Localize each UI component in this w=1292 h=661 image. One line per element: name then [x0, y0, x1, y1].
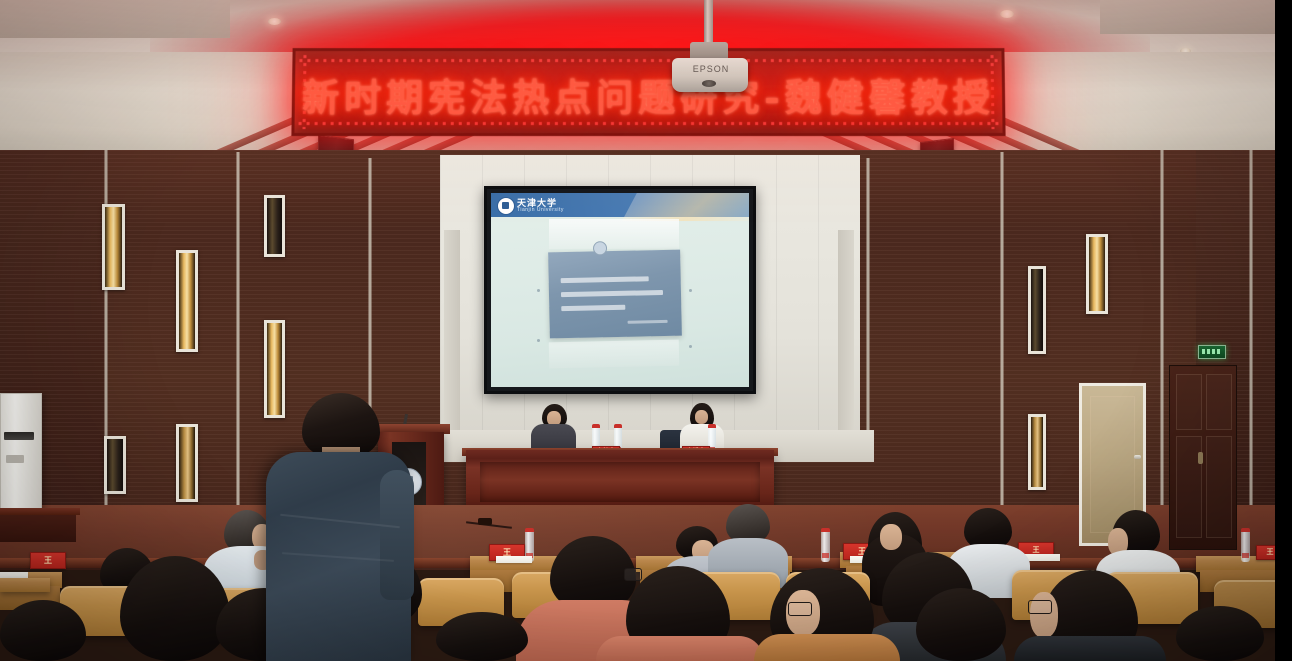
- projection-screen: 天津大学 Tianjin University: [491, 193, 749, 387]
- audience-person-head: [0, 600, 86, 661]
- main-exit-door[interactable]: [1169, 365, 1237, 550]
- wall-light-slot: [264, 195, 285, 257]
- led-banner: 新时期宪法热点问题研究-魏健馨教授: [291, 48, 1005, 136]
- audience-nameplate-text: 王: [490, 545, 524, 556]
- eyeglasses-icon: [624, 568, 642, 581]
- audience-person-shoulders: [1014, 636, 1166, 661]
- eyeglasses-icon: [788, 602, 812, 616]
- audience-person-head: [1176, 606, 1264, 661]
- front-wall-strip-left: [444, 230, 460, 435]
- tianjin-university-logo-icon: [497, 197, 515, 215]
- slide-org-name-en: Tianjin University: [517, 207, 564, 213]
- lecture-hall-photo: 新时期宪法热点问题研究-魏健馨教授 EPSON 天津大学 Tianjin Uni…: [0, 0, 1292, 661]
- wall-light-slot: [176, 250, 198, 352]
- wall-seam: [1160, 150, 1164, 550]
- slide-quote-crest-icon: [593, 241, 607, 255]
- slide-document-bottom: [549, 340, 680, 369]
- water-bottle: [1241, 528, 1250, 562]
- slide-header-band: 天津大学 Tianjin University: [491, 193, 749, 217]
- water-bottle: [821, 528, 830, 562]
- right-edge-black-bar: [1275, 0, 1292, 661]
- wall-seam: [368, 158, 372, 428]
- emergency-exit-sign-icon: [1198, 345, 1226, 359]
- audience-paper: [496, 556, 532, 563]
- wall-seam: [866, 158, 870, 448]
- slide-document-top: [549, 219, 679, 249]
- audience-nameplate-text: 王: [1019, 543, 1053, 553]
- led-banner-text: 新时期宪法热点问题研究-魏健馨教授: [294, 51, 1002, 133]
- wall-seam: [1000, 152, 1004, 522]
- audience-person-shoulders: [596, 636, 764, 661]
- slide-marker: [537, 289, 540, 292]
- wall-light-slot: [1028, 414, 1046, 490]
- ceiling-downlight: [268, 18, 281, 25]
- exit-door-handle[interactable]: [1198, 452, 1203, 464]
- projector-brand-label: EPSON: [686, 64, 736, 74]
- wall-light-slot: [104, 436, 126, 494]
- eyeglasses-icon: [1028, 600, 1052, 614]
- slide-marker: [689, 289, 692, 292]
- ceiling-slab-left: [0, 0, 230, 38]
- wall-light-slot: [102, 204, 125, 290]
- slide-body: [491, 217, 749, 387]
- wall-light-slot: [1086, 234, 1108, 314]
- wall-light-slot: [1028, 266, 1046, 354]
- wall-seam: [1249, 150, 1253, 550]
- air-conditioner-vent: [4, 432, 34, 440]
- wall-seam: [236, 152, 240, 512]
- slide-quote-panel: [548, 250, 682, 339]
- audience-nameplate-text: 王: [31, 553, 65, 564]
- slide-marker: [537, 339, 540, 342]
- audience-desk: [0, 578, 50, 592]
- wall-light-slot: [176, 424, 198, 502]
- side-rail-left-top: [0, 508, 80, 515]
- audience-person-face: [1030, 592, 1058, 638]
- audience-person-head: [916, 588, 1006, 661]
- side-rail-left: [0, 512, 76, 542]
- floor-cable: [478, 518, 492, 525]
- audience-person-face: [880, 524, 902, 550]
- audience-nameplate: 王: [30, 552, 66, 569]
- projector-mount-pole: [704, 0, 713, 48]
- head-table-person-face: [695, 410, 708, 424]
- front-wall-strip-right: [838, 230, 854, 435]
- standing-person-arm: [380, 470, 414, 600]
- ceiling-slab-right: [1100, 0, 1292, 34]
- air-conditioner-control-panel[interactable]: [6, 455, 24, 463]
- ceiling-downlight: [1000, 10, 1014, 18]
- slide-marker: [689, 345, 692, 348]
- wall-light-slot: [264, 320, 285, 418]
- projector-lens: [702, 80, 716, 87]
- door-handle[interactable]: [1134, 455, 1141, 459]
- head-table-front-panel: [480, 462, 760, 502]
- audience-person-head: [436, 612, 528, 661]
- audience-person-shoulders: [754, 634, 900, 661]
